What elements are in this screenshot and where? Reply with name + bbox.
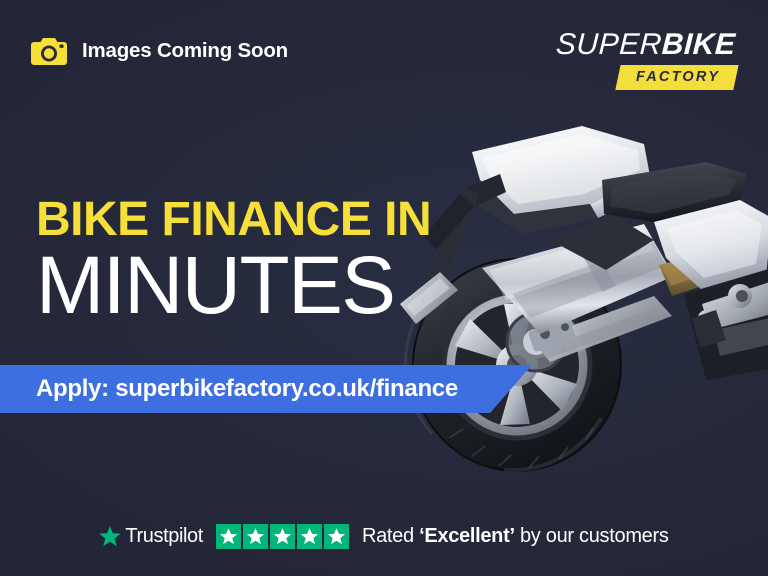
rated-suffix: by our customers	[515, 525, 669, 547]
logo-word-super: SUPER	[556, 30, 663, 60]
logo-word-bike: BIKE	[662, 30, 737, 60]
trustpilot-stars	[216, 524, 349, 549]
headline-line-1: BIKE FINANCE IN	[36, 196, 431, 243]
star-icon	[99, 526, 121, 547]
images-coming-soon-label: Images Coming Soon	[82, 39, 288, 63]
logo-wordmark: SUPERBIKE	[556, 30, 737, 60]
star-icon	[297, 524, 322, 549]
star-icon	[270, 524, 295, 549]
camera-icon	[30, 36, 68, 66]
trustpilot-rated-text: Rated ‘Excellent’ by our customers	[362, 525, 669, 548]
star-icon	[324, 524, 349, 549]
logo-factory-label: FACTORY	[636, 70, 720, 85]
trustpilot-brand: Trustpilot	[99, 525, 203, 548]
apply-url-banner[interactable]: Apply: superbikefactory.co.uk/finance	[0, 365, 532, 413]
logo-factory-banner: FACTORY	[615, 65, 738, 90]
rated-prefix: Rated	[362, 525, 419, 547]
bike-finance-ad-banner: Images Coming Soon SUPERBIKE FACTORY BIK…	[0, 0, 768, 576]
images-coming-soon: Images Coming Soon	[30, 36, 288, 66]
star-icon	[216, 524, 241, 549]
rated-value: ‘Excellent’	[419, 525, 515, 547]
trustpilot-brand-name: Trustpilot	[125, 525, 203, 548]
trustpilot-rating-footer: Trustpilot Rated ‘Excellent’ by our cust…	[0, 524, 768, 549]
superbike-factory-logo: SUPERBIKE FACTORY	[556, 30, 736, 90]
star-icon	[243, 524, 268, 549]
apply-url-text: Apply: superbikefactory.co.uk/finance	[36, 375, 458, 403]
headline-line-2: MINUTES	[36, 245, 431, 327]
headline: BIKE FINANCE IN MINUTES	[36, 196, 431, 327]
